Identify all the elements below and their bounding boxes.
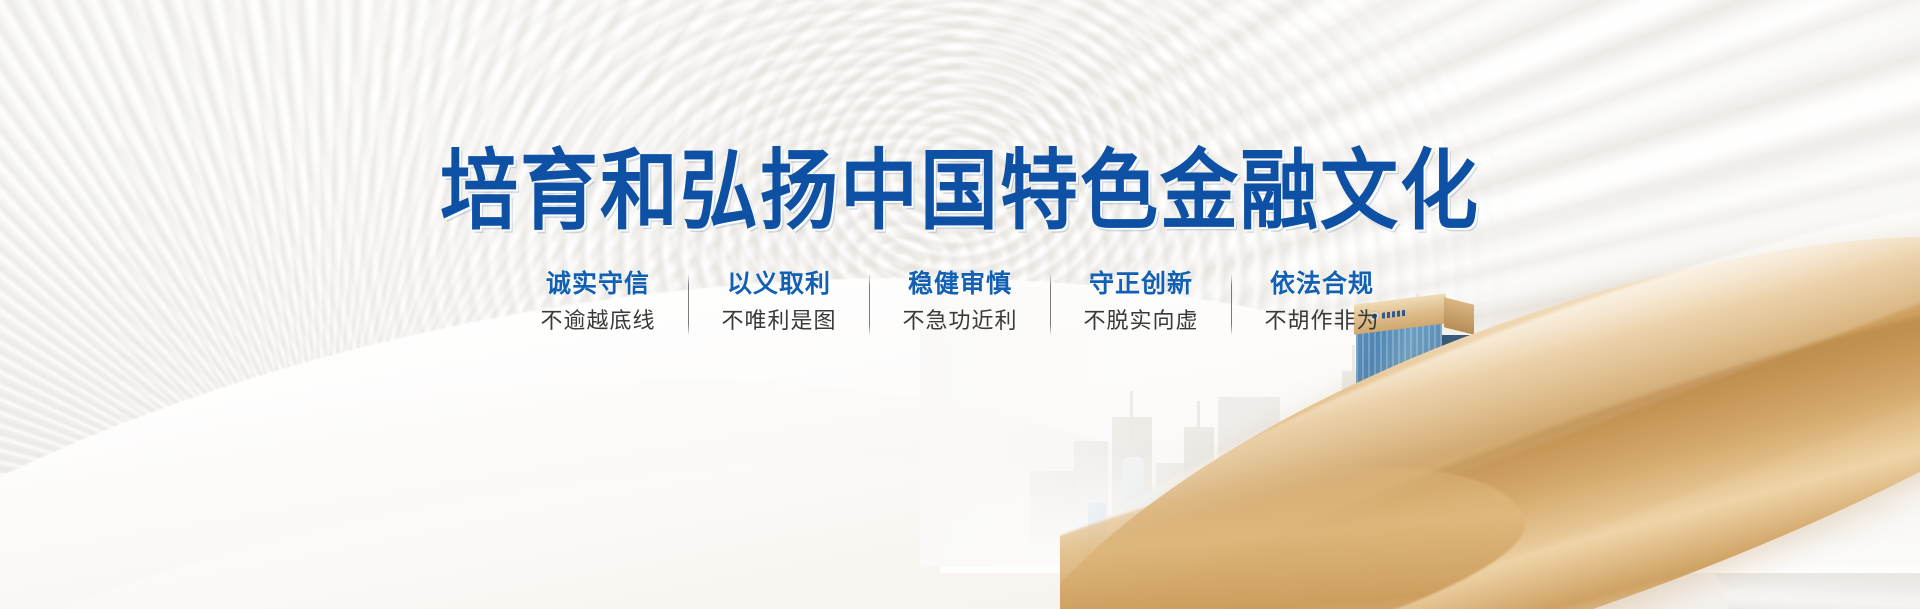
value-item-3: 稳健审慎 不急功近利 [896, 270, 1024, 334]
value-item-1: 诚实守信 不逾越底线 [534, 270, 662, 334]
value-title: 诚实守信 [546, 270, 650, 299]
value-title: 稳健审慎 [908, 270, 1012, 299]
value-subtitle: 不唯利是图 [721, 309, 836, 334]
banner-headline: 培育和弘扬中国特色金融文化 [440, 128, 1480, 240]
value-separator [1050, 274, 1051, 336]
value-title: 依法合规 [1270, 270, 1374, 299]
value-subtitle: 不逾越底线 [540, 309, 655, 334]
value-subtitle: 不脱实向虚 [1083, 309, 1198, 334]
value-item-4: 守正创新 不脱实向虚 [1077, 270, 1205, 334]
value-separator [1231, 274, 1232, 336]
value-separator [688, 274, 689, 336]
banner-headline-text: 培育和弘扬中国特色金融文化 [440, 121, 1480, 246]
value-title: 守正创新 [1089, 270, 1193, 299]
value-subtitle: 不胡作非为 [1264, 309, 1379, 334]
value-title: 以义取利 [727, 270, 831, 299]
value-item-2: 以义取利 不唯利是图 [715, 270, 843, 334]
value-subtitle: 不急功近利 [902, 309, 1017, 334]
banner-content: 培育和弘扬中国特色金融文化 诚实守信 不逾越底线 以义取利 不唯利是图 稳健审慎… [0, 0, 1920, 609]
core-values-row: 诚实守信 不逾越底线 以义取利 不唯利是图 稳健审慎 不急功近利 守正创新 不脱… [534, 270, 1386, 336]
value-separator [869, 274, 870, 336]
value-item-5: 依法合规 不胡作非为 [1258, 270, 1386, 334]
finance-culture-banner: 培育和弘扬中国特色金融文化 诚实守信 不逾越底线 以义取利 不唯利是图 稳健审慎… [0, 0, 1920, 609]
